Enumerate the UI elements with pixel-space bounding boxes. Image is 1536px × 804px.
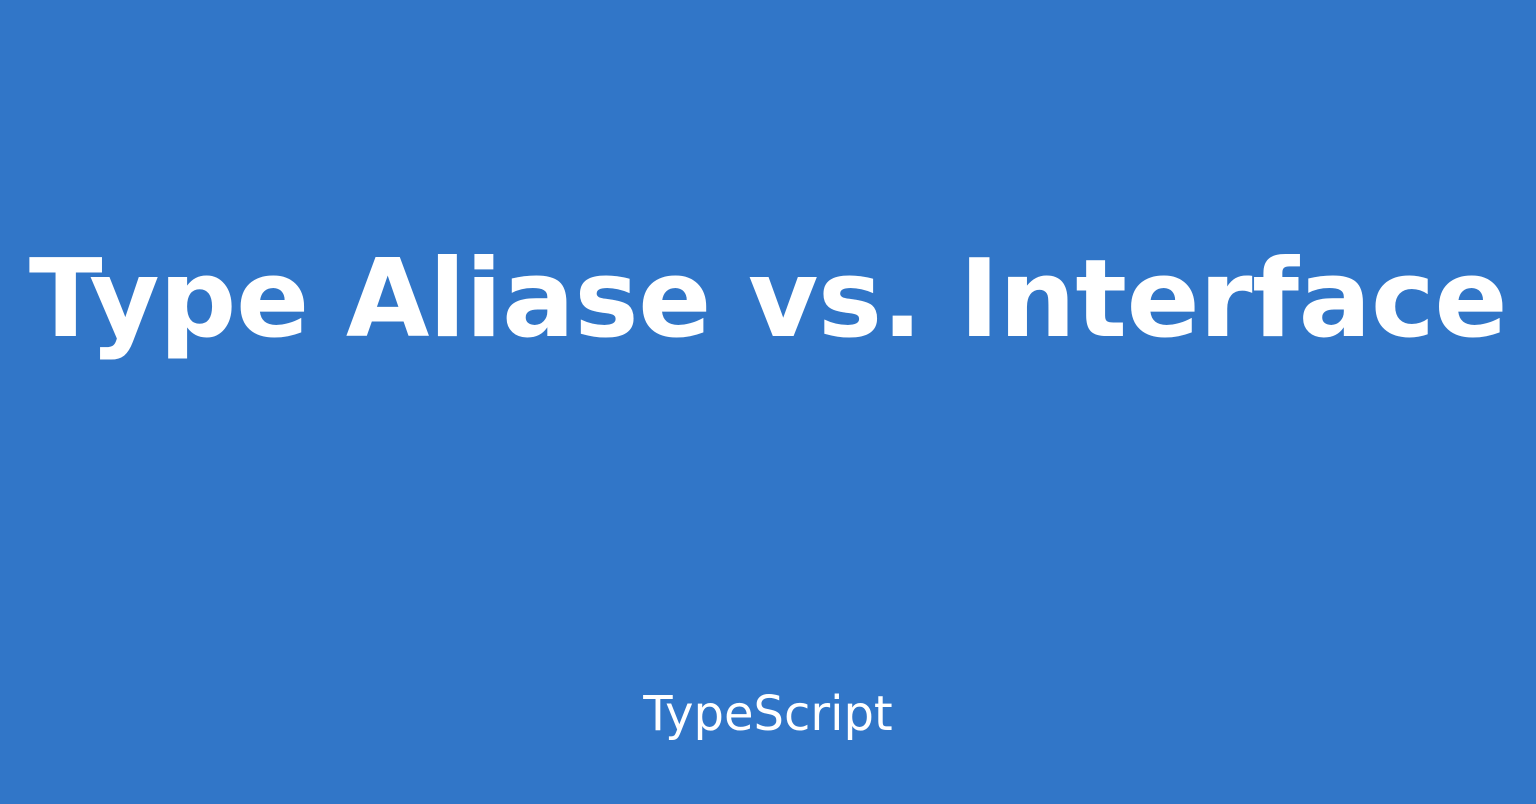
title-slide: Type Aliase vs. Interface TypeScript [0, 0, 1536, 804]
slide-subtitle: TypeScript [603, 686, 932, 744]
slide-title: Type Aliase vs. Interface [0, 240, 1536, 361]
subtitle-container: TypeScript [0, 686, 1536, 744]
title-container: Type Aliase vs. Interface [0, 0, 1536, 600]
